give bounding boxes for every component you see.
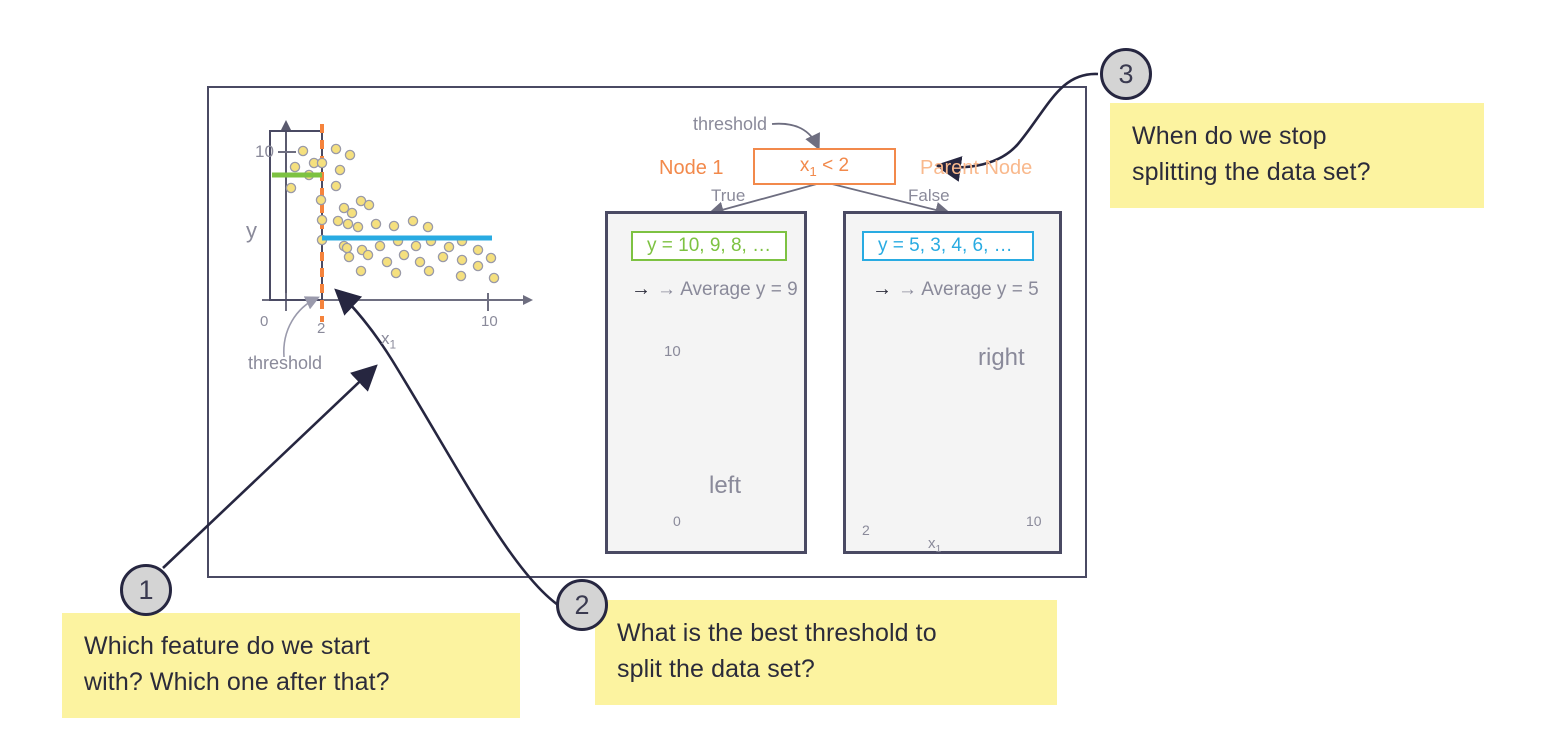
main-y-tick-10: 10 bbox=[255, 142, 274, 162]
callout-number-3[interactable]: 3 bbox=[1100, 48, 1152, 100]
left-subplot-y-tick-10: 10 bbox=[664, 343, 681, 360]
callout-1-line-2: with? Which one after that? bbox=[84, 665, 498, 701]
left-child-panel bbox=[605, 211, 807, 554]
node-1-label: Node 1 bbox=[659, 157, 724, 180]
callout-number-3-text: 3 bbox=[1118, 59, 1133, 90]
right-child-values-box: y = 5, 3, 4, 6, … bbox=[862, 231, 1034, 261]
decision-node-box[interactable]: x1 < 2 bbox=[753, 148, 896, 185]
main-x-axis-label: x1 bbox=[381, 329, 396, 351]
callout-number-2[interactable]: 2 bbox=[556, 579, 608, 631]
tree-threshold-pointer bbox=[772, 124, 818, 147]
right-child-panel bbox=[843, 211, 1062, 554]
main-threshold-annotation: threshold bbox=[248, 353, 322, 374]
callout-2-line-1: What is the best threshold to bbox=[617, 616, 1035, 652]
right-child-average: →→ Average y = 5 bbox=[872, 278, 1039, 301]
tree-threshold-annotation: threshold bbox=[693, 114, 767, 135]
callout-1-arrow bbox=[163, 368, 374, 568]
branch-true-label: True bbox=[711, 186, 745, 206]
branch-false-label: False bbox=[908, 186, 950, 206]
right-region-label: right bbox=[978, 344, 1025, 372]
main-x-tick-0: 0 bbox=[260, 313, 268, 330]
callout-1-line-1: Which feature do we start bbox=[84, 629, 498, 665]
right-arrow-icon-2: → bbox=[872, 278, 898, 300]
main-x-tick-10: 10 bbox=[481, 313, 498, 330]
callout-number-2-text: 2 bbox=[574, 590, 589, 621]
left-region-label: left bbox=[709, 472, 741, 500]
parent-node-label: Parent Node bbox=[920, 157, 1032, 180]
callout-number-1-text: 1 bbox=[138, 575, 153, 606]
main-y-axis-label: y bbox=[246, 218, 257, 244]
left-child-values-box: y = 10, 9, 8, … bbox=[631, 231, 787, 261]
callout-2-line-2: split the data set? bbox=[617, 652, 1035, 688]
left-partition-box bbox=[270, 131, 322, 300]
callout-2-arrow bbox=[338, 292, 570, 612]
right-child-average-text: → Average y = 5 bbox=[898, 279, 1039, 300]
left-child-average: →→ Average y = 9 bbox=[631, 278, 798, 301]
left-child-values: y = 10, 9, 8, … bbox=[647, 235, 771, 257]
right-arrow-icon: → bbox=[631, 278, 657, 300]
callout-3-line-2: splitting the data set? bbox=[1132, 155, 1462, 191]
left-child-average-text: → Average y = 9 bbox=[657, 279, 798, 300]
callout-1: Which feature do we start with? Which on… bbox=[62, 613, 520, 718]
callout-2: What is the best threshold to split the … bbox=[595, 600, 1057, 705]
scatter-points bbox=[286, 144, 498, 282]
right-subplot-x-axis-label: x1 bbox=[928, 535, 941, 555]
callout-3: When do we stop splitting the data set? bbox=[1110, 103, 1484, 208]
threshold-pointer bbox=[284, 298, 317, 357]
callout-3-line-1: When do we stop bbox=[1132, 119, 1462, 155]
left-subplot-x-tick-0: 0 bbox=[673, 513, 681, 529]
decision-node-condition: x1 < 2 bbox=[800, 155, 849, 179]
right-child-values: y = 5, 3, 4, 6, … bbox=[878, 235, 1013, 257]
right-subplot-x-tick-2: 2 bbox=[862, 522, 870, 538]
slide-canvas: 10 y 0 2 10 x1 threshold threshold Node … bbox=[0, 0, 1543, 739]
callout-number-1[interactable]: 1 bbox=[120, 564, 172, 616]
main-threshold-tick-2: 2 bbox=[317, 320, 325, 337]
right-subplot-x-tick-10: 10 bbox=[1026, 513, 1042, 529]
